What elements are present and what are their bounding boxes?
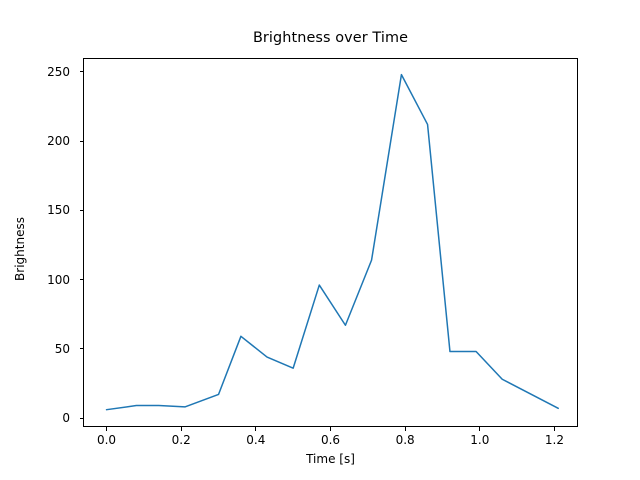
x-tick-mark [405,427,406,431]
x-tick-mark [255,427,256,431]
x-axis-label: Time [s] [83,452,578,466]
x-tick-label: 0.4 [226,433,286,447]
x-tick-mark [106,427,107,431]
x-tick-mark [554,427,555,431]
x-tick-mark [330,427,331,431]
y-axis-label: Brightness [13,189,27,309]
chart-figure: Brightness over Time 050100150200250 0.0… [0,0,640,480]
x-axis: 0.00.20.40.60.81.01.2 [0,0,640,480]
x-tick-label: 0.0 [77,433,137,447]
x-tick-mark [479,427,480,431]
x-tick-label: 1.2 [524,433,584,447]
x-tick-mark [181,427,182,431]
x-tick-label: 0.2 [151,433,211,447]
x-tick-label: 1.0 [450,433,510,447]
x-tick-label: 0.6 [301,433,361,447]
x-tick-label: 0.8 [375,433,435,447]
